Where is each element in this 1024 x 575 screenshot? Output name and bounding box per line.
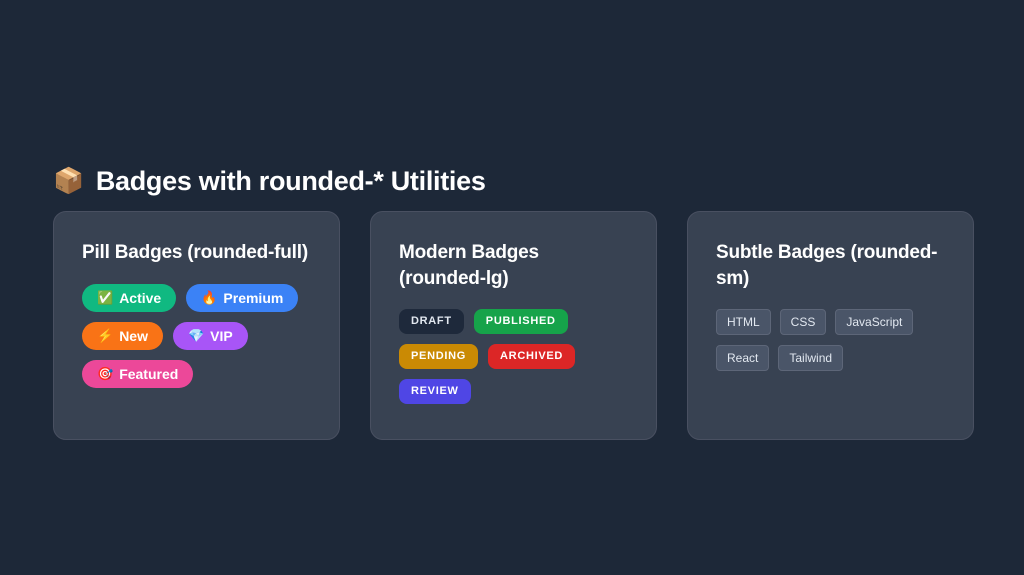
badge-active[interactable]: ✅ Active xyxy=(82,284,176,312)
badge-label: Active xyxy=(119,291,161,305)
page-title-text: Badges with rounded-* Utilities xyxy=(96,166,486,197)
badge-vip[interactable]: 💎 VIP xyxy=(173,322,248,350)
card-pill-badges: Pill Badges (rounded-full) ✅ Active 🔥 Pr… xyxy=(53,211,340,440)
badge-draft[interactable]: DRAFT xyxy=(399,309,464,334)
badge-label: Premium xyxy=(223,291,283,305)
target-icon: 🎯 xyxy=(97,367,113,380)
badge-react[interactable]: React xyxy=(716,345,769,371)
badge-label: New xyxy=(119,329,148,343)
badge-featured[interactable]: 🎯 Featured xyxy=(82,360,193,388)
page-root: 📦 Badges with rounded-* Utilities Pill B… xyxy=(0,0,1024,575)
fire-icon: 🔥 xyxy=(201,291,217,304)
badge-javascript[interactable]: JavaScript xyxy=(835,309,913,335)
card-title: Subtle Badges (rounded-sm) xyxy=(716,240,945,291)
badge-list-pill: ✅ Active 🔥 Premium ⚡ New 💎 VIP 🎯 Fe xyxy=(82,284,311,388)
badge-label: VIP xyxy=(210,329,233,343)
badge-new[interactable]: ⚡ New xyxy=(82,322,163,350)
gem-icon: 💎 xyxy=(188,329,204,342)
badge-label: Featured xyxy=(119,367,178,381)
badge-pending[interactable]: PENDING xyxy=(399,344,478,369)
badge-list-modern: DRAFT PUBLISHED PENDING ARCHIVED REVIEW xyxy=(399,309,628,404)
lightning-bolt-icon: ⚡ xyxy=(97,329,113,342)
badge-cards-container: Pill Badges (rounded-full) ✅ Active 🔥 Pr… xyxy=(53,211,974,440)
page-title: 📦 Badges with rounded-* Utilities xyxy=(53,166,486,197)
badge-review[interactable]: REVIEW xyxy=(399,379,471,404)
package-icon: 📦 xyxy=(53,169,84,194)
card-title: Modern Badges (rounded-lg) xyxy=(399,240,628,291)
badge-premium[interactable]: 🔥 Premium xyxy=(186,284,298,312)
badge-published[interactable]: PUBLISHED xyxy=(474,309,568,334)
badge-list-subtle: HTML CSS JavaScript React Tailwind xyxy=(716,309,945,371)
badge-html[interactable]: HTML xyxy=(716,309,771,335)
check-mark-icon: ✅ xyxy=(97,291,113,304)
card-title: Pill Badges (rounded-full) xyxy=(82,240,311,266)
card-subtle-badges: Subtle Badges (rounded-sm) HTML CSS Java… xyxy=(687,211,974,440)
badge-css[interactable]: CSS xyxy=(780,309,827,335)
card-modern-badges: Modern Badges (rounded-lg) DRAFT PUBLISH… xyxy=(370,211,657,440)
badge-tailwind[interactable]: Tailwind xyxy=(778,345,843,371)
badge-archived[interactable]: ARCHIVED xyxy=(488,344,575,369)
